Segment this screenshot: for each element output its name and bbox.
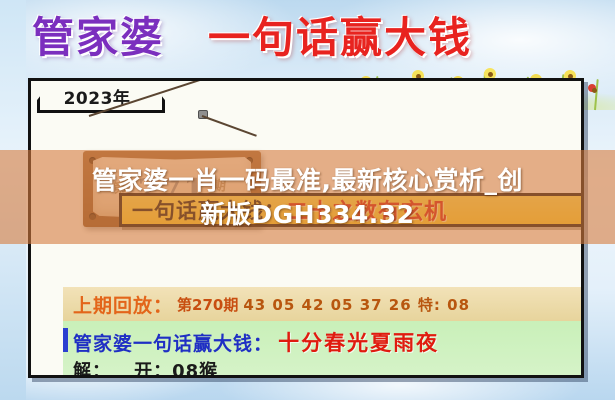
result-row-value: 开：08猴 [134,361,218,375]
result-row-value: 十分春光夏雨夜 [278,331,439,355]
header-slogan: 一句话赢大钱 [208,12,472,64]
year-tag-label: 2023年 [37,84,157,109]
brand-title: 管家婆 [32,12,164,64]
previous-draw-numbers: 43 05 42 05 37 26 特: 08 [243,294,470,315]
result-row: 管家婆一句话赢大钱： 十分春光夏雨夜 [73,327,439,357]
flower-icon [588,84,596,92]
hanger-rope-right [202,115,257,137]
result-row-label: 解： [73,361,111,375]
result-row-label: 管家婆一句话赢大钱： [73,333,273,355]
watermark-text: 管家婆一肖一码最准,最新核心赏析_创 新版DGH334.32 [0,152,615,244]
previous-draw-row: 上期回放： 第270期 43 05 42 05 37 26 特: 08 [63,287,581,321]
previous-draw-label: 上期回放： [73,291,173,318]
results-block: 管家婆一句话赢大钱： 十分春光夏雨夜 解： 开：08猴 管家婆平特玄机： 守株待… [63,321,581,375]
result-row: 解： 开：08猴 [73,357,218,375]
previous-draw-issue: 第270期 [177,294,238,315]
watermark-line-2: 新版DGH334.32 [200,198,414,232]
poster-canvas: 管家婆 一句话赢大钱 [0,0,615,400]
watermark-line-1: 管家婆一肖一码最准,最新核心赏析_创 [92,164,523,198]
